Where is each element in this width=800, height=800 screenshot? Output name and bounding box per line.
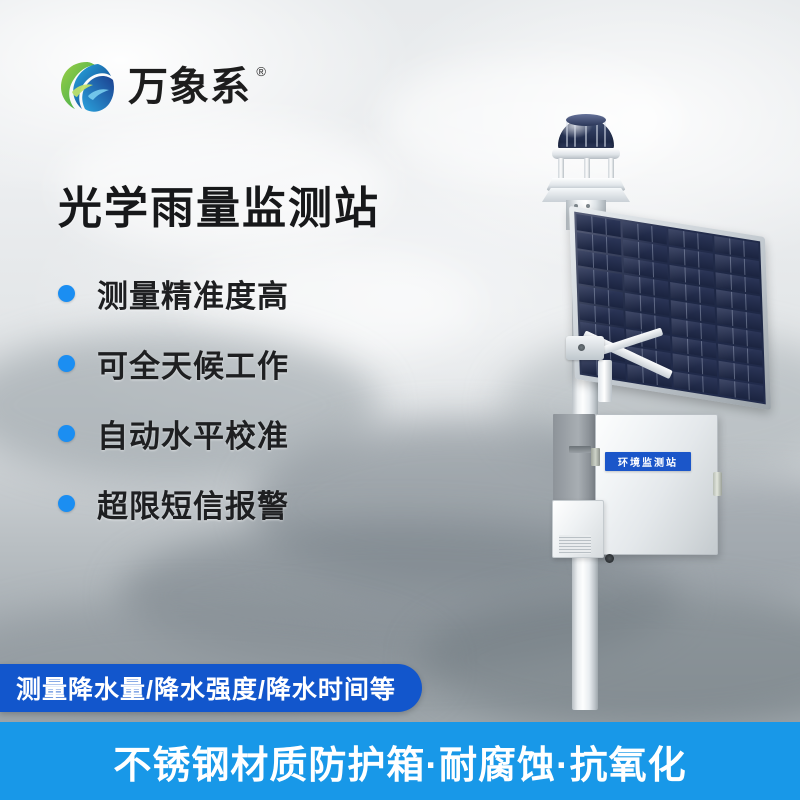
measurement-banner: 测量降水量/降水强度/降水时间等 — [0, 664, 422, 712]
list-item: 测量精准度高 — [58, 258, 398, 328]
feature-list: 测量精准度高 可全天候工作 自动水平校准 超限短信报警 — [58, 258, 398, 538]
registered-trademark-icon: ® — [256, 64, 266, 79]
list-item: 可全天候工作 — [58, 328, 398, 398]
page-title: 光学雨量监测站 — [58, 172, 380, 236]
globe-swirl-logo-icon — [58, 59, 116, 115]
bullet-dot-icon — [58, 425, 75, 442]
brand-name: 万象系 — [128, 67, 251, 107]
bullet-dot-icon — [58, 285, 75, 302]
bottom-tagline-text: 不锈钢材质防护箱·耐腐蚀·抗氧化 — [113, 734, 686, 789]
product-poster: 环境监测站 — [0, 0, 800, 800]
list-item: 超限短信报警 — [58, 468, 398, 538]
bullet-dot-icon — [58, 495, 75, 512]
brand-logo: 万象系 ® — [58, 58, 251, 116]
feature-label: 自动水平校准 — [97, 411, 289, 456]
feature-label: 可全天候工作 — [97, 341, 289, 386]
bottom-tagline-bar: 不锈钢材质防护箱·耐腐蚀·抗氧化 — [0, 722, 800, 800]
list-item: 自动水平校准 — [58, 398, 398, 468]
feature-label: 测量精准度高 — [97, 271, 289, 316]
measurement-banner-text: 测量降水量/降水强度/降水时间等 — [16, 670, 396, 706]
feature-label: 超限短信报警 — [97, 481, 289, 526]
bullet-dot-icon — [58, 355, 75, 372]
